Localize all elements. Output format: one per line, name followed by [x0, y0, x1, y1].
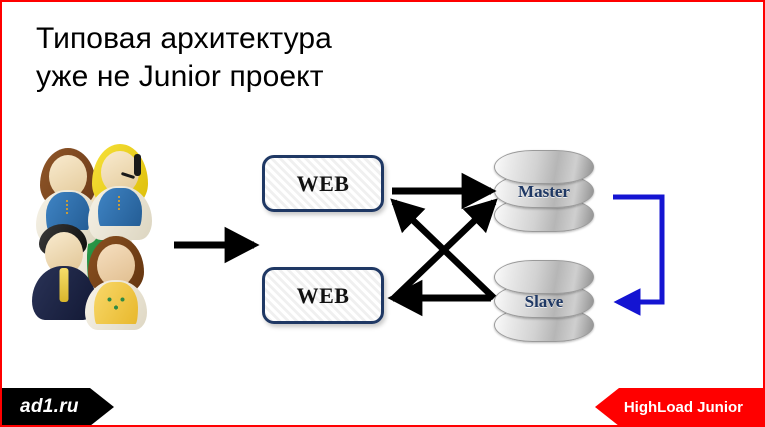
db-segment — [494, 150, 594, 184]
arrow-master-to-slave-replication — [613, 197, 662, 302]
headset-icon — [134, 154, 141, 176]
ad1-logo[interactable]: ad1.ru — [2, 388, 114, 426]
database-master-label: Master — [494, 182, 594, 202]
users-group-icon — [27, 140, 162, 330]
slide-canvas: Типовая архитектура уже не Junior проект — [0, 0, 765, 427]
database-slave-label: Slave — [494, 292, 594, 312]
web-node-1[interactable]: WEB — [262, 155, 384, 212]
page-title: Типовая архитектура уже не Junior проект — [36, 20, 556, 97]
ad1-logo-label: ad1.ru — [2, 396, 79, 418]
highload-junior-badge-label: HighLoad Junior — [624, 399, 763, 416]
highload-junior-badge[interactable]: HighLoad Junior — [595, 388, 763, 426]
database-master[interactable]: Master — [494, 150, 594, 232]
dress-pattern-icon — [103, 294, 129, 312]
necktie-icon — [60, 268, 69, 302]
arrow-master-to-web1 — [394, 202, 494, 298]
db-segment — [494, 260, 594, 294]
web-node-1-label: WEB — [297, 171, 350, 197]
web-node-2-label: WEB — [297, 283, 350, 309]
database-slave[interactable]: Slave — [494, 260, 594, 342]
web-node-2[interactable]: WEB — [262, 267, 384, 324]
avatar-woman-yellow-dress — [83, 236, 149, 330]
arrow-web2-to-master — [394, 202, 494, 298]
